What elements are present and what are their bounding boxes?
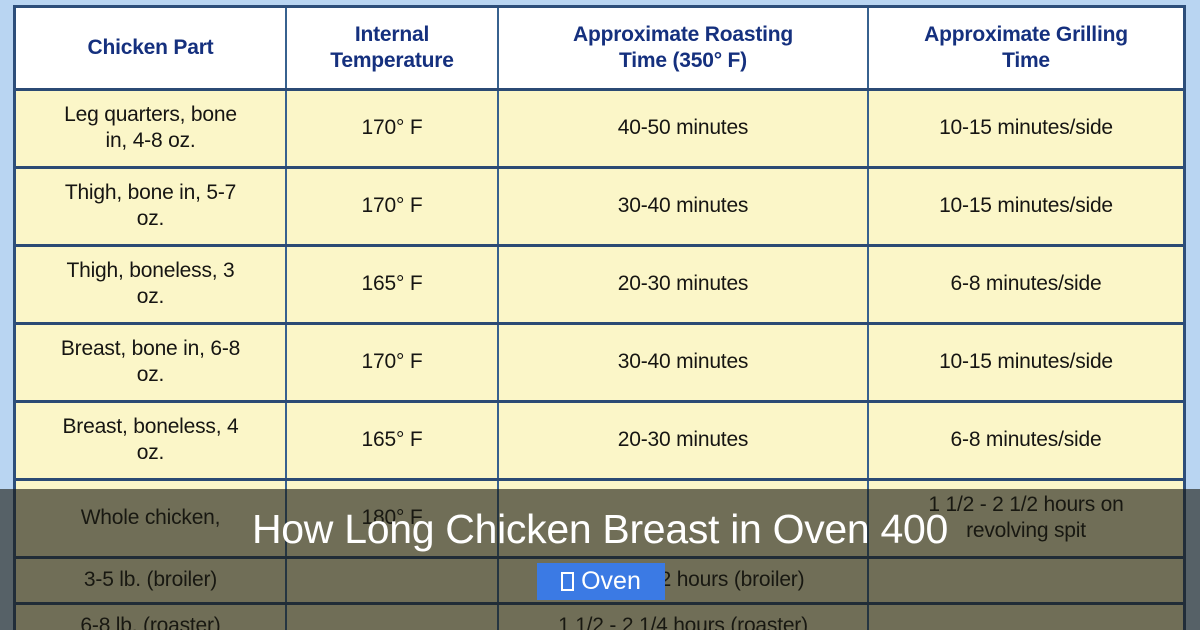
cell-chicken-part: Thigh, bone in, 5-7 oz. xyxy=(16,167,286,245)
table-row: Thigh, boneless, 3 oz. 165° F 20-30 minu… xyxy=(16,245,1183,323)
overlay-content: How Long Chicken Breast in Oven 400 Oven xyxy=(0,489,1200,630)
cell-roasting-time: 40-50 minutes xyxy=(498,89,868,167)
missing-glyph-box-icon xyxy=(561,572,574,591)
oven-badge-label: Oven xyxy=(581,567,641,595)
cell-chicken-part: Leg quarters, bone in, 4-8 oz. xyxy=(16,89,286,167)
cell-grilling-time: 6-8 minutes/side xyxy=(868,401,1183,479)
cell-internal-temperature: 170° F xyxy=(286,323,498,401)
cell-chicken-part: Breast, boneless, 4 oz. xyxy=(16,401,286,479)
cell-internal-temperature: 165° F xyxy=(286,245,498,323)
table-header-row: Chicken Part Internal Temperature Approx… xyxy=(16,8,1183,89)
screenshot-stage: Chicken Part Internal Temperature Approx… xyxy=(0,0,1200,630)
page-title: How Long Chicken Breast in Oven 400 xyxy=(0,509,1200,550)
oven-badge[interactable]: Oven xyxy=(537,563,665,600)
cell-chicken-part: Breast, bone in, 6-8 oz. xyxy=(16,323,286,401)
cell-grilling-time: 10-15 minutes/side xyxy=(868,89,1183,167)
table-row: Breast, bone in, 6-8 oz. 170° F 30-40 mi… xyxy=(16,323,1183,401)
column-header-internal-temperature: Internal Temperature xyxy=(286,8,498,89)
cell-chicken-part: Thigh, boneless, 3 oz. xyxy=(16,245,286,323)
cell-roasting-time: 20-30 minutes xyxy=(498,401,868,479)
cell-roasting-time: 20-30 minutes xyxy=(498,245,868,323)
column-header-approximate-grilling-time: Approximate Grilling Time xyxy=(868,8,1183,89)
column-header-chicken-part: Chicken Part xyxy=(16,8,286,89)
cell-roasting-time: 30-40 minutes xyxy=(498,323,868,401)
cell-grilling-time: 10-15 minutes/side xyxy=(868,167,1183,245)
cell-grilling-time: 6-8 minutes/side xyxy=(868,245,1183,323)
cell-internal-temperature: 170° F xyxy=(286,89,498,167)
table-header: Chicken Part Internal Temperature Approx… xyxy=(16,8,1183,89)
table-row: Breast, boneless, 4 oz. 165° F 20-30 min… xyxy=(16,401,1183,479)
column-header-approximate-roasting-time: Approximate Roasting Time (350° F) xyxy=(498,8,868,89)
cell-roasting-time: 30-40 minutes xyxy=(498,167,868,245)
table-row: Leg quarters, bone in, 4-8 oz. 170° F 40… xyxy=(16,89,1183,167)
cell-internal-temperature: 170° F xyxy=(286,167,498,245)
cell-internal-temperature: 165° F xyxy=(286,401,498,479)
cell-grilling-time: 10-15 minutes/side xyxy=(868,323,1183,401)
table-row: Thigh, bone in, 5-7 oz. 170° F 30-40 min… xyxy=(16,167,1183,245)
